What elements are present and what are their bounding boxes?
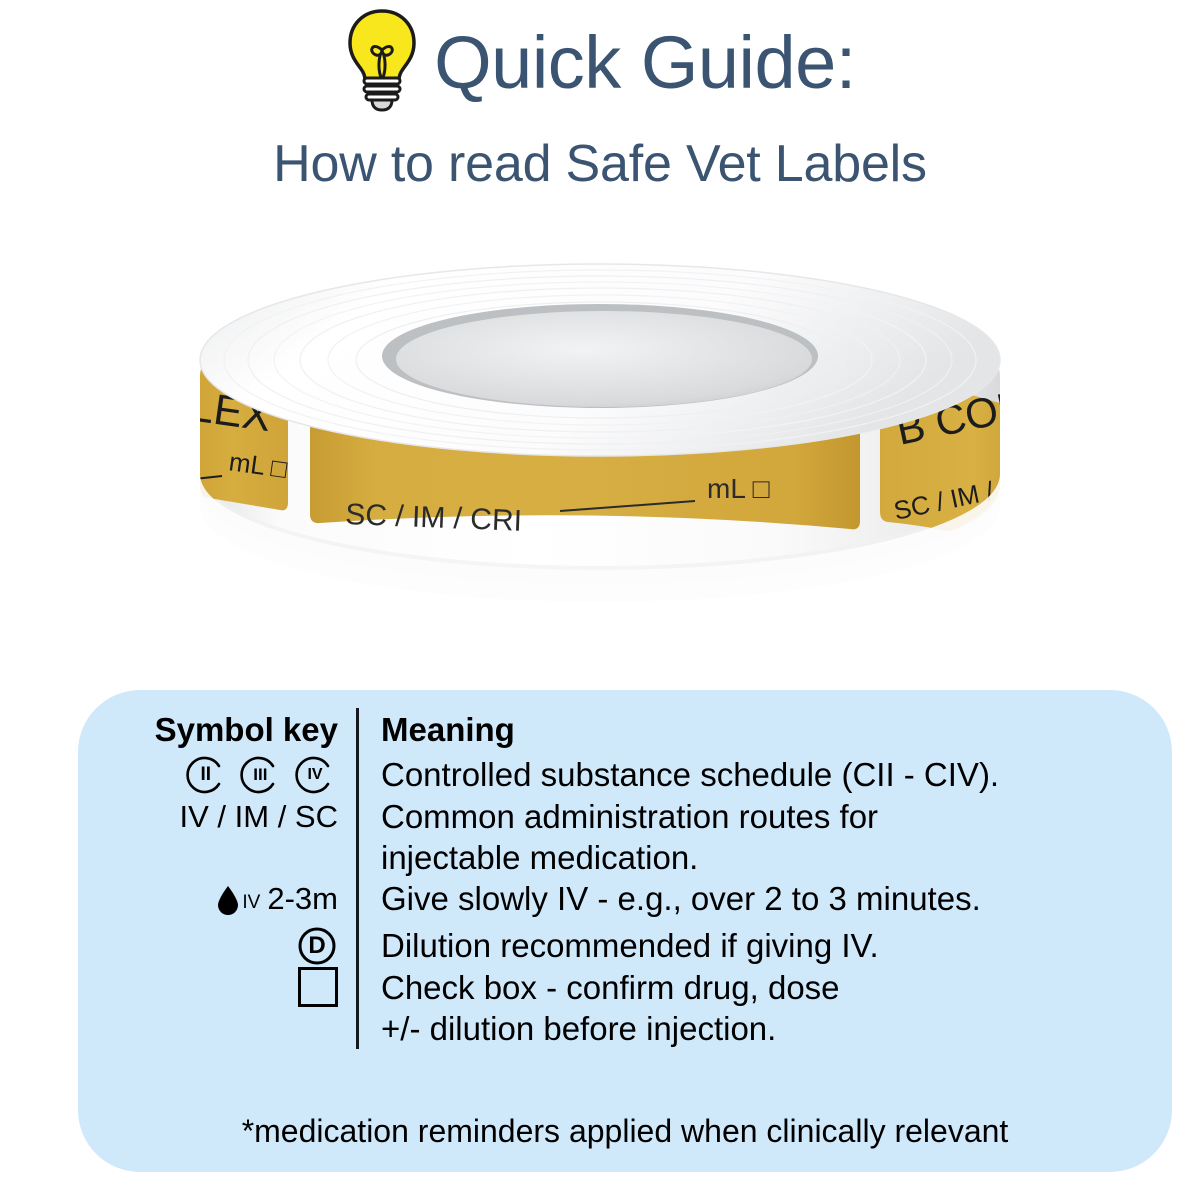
label-center-volume-unit: mL □ [707, 473, 770, 504]
meaning-dilution: Dilution recommended if giving IV. [358, 925, 1000, 967]
meaning-routes-line2: injectable medication. [381, 837, 999, 878]
table-row: IV2-3m Give slowly IV - e.g., over 2 to … [100, 878, 999, 925]
meaning-checkbox-line1: Check box - confirm drug, dose [381, 967, 999, 1008]
circled-d-label: D [296, 925, 338, 967]
symbol-checkbox [100, 967, 358, 1049]
symbol-routes: IV / IM / SC [100, 796, 358, 878]
table-row: IV / IM / SC Common administration route… [100, 796, 999, 878]
card-footnote: *medication reminders applied when clini… [78, 1113, 1172, 1150]
symbol-key-table: Symbol key Meaning II III IV [100, 708, 999, 1049]
meaning-checkbox: Check box - confirm drug, dose +/- dilut… [358, 967, 1000, 1049]
meaning-routes-line1: Common administration routes for [381, 796, 999, 837]
page-title: Quick Guide: [434, 26, 856, 100]
meaning-controlled-schedule: Controlled substance schedule (CII - CIV… [358, 754, 1000, 796]
table-row: II III IV Controlled substance schedule … [100, 754, 999, 796]
product-photo: PLEX mL □ B COMPLEX mL □ SC / IM / CRI B… [0, 230, 1200, 660]
circled-two-label: II [186, 755, 226, 795]
label-center-routes: SC / IM / CRI [345, 498, 523, 538]
circled-d-icon: D [296, 925, 338, 967]
column-header-meaning: Meaning [358, 708, 1000, 754]
slow-iv-duration-label: 2-3m [267, 881, 338, 916]
meaning-routes: Common administration routes for injecta… [358, 796, 1000, 878]
page-subtitle: How to read Safe Vet Labels [0, 138, 1200, 190]
symbol-controlled-schedule: II III IV [100, 754, 358, 796]
drop-icon [217, 885, 239, 915]
label-roll-illustration: PLEX mL □ B COMPLEX mL □ SC / IM / CRI B… [170, 230, 1030, 660]
table-header-row: Symbol key Meaning [100, 708, 999, 754]
symbol-key-table-wrap: Symbol key Meaning II III IV [78, 708, 1172, 1049]
symbol-dilution: D [100, 925, 358, 967]
symbol-key-card: Symbol key Meaning II III IV [78, 690, 1172, 1172]
circled-three-label: III [240, 755, 280, 795]
circled-two-icon: II [186, 755, 226, 795]
circled-four-label: IV [295, 755, 335, 795]
circled-three-icon: III [240, 755, 280, 795]
column-header-symbol: Symbol key [100, 708, 358, 754]
symbol-slow-iv: IV2-3m [100, 878, 358, 925]
table-row: D Dilution recommended if giving IV. [100, 925, 999, 967]
table-row: Check box - confirm drug, dose +/- dilut… [100, 967, 999, 1049]
meaning-slow-iv: Give slowly IV - e.g., over 2 to 3 minut… [358, 878, 1000, 925]
circled-four-icon: IV [295, 755, 335, 795]
meaning-checkbox-line2: +/- dilution before injection. [381, 1008, 999, 1049]
page-header: Quick Guide: How to read Safe Vet Labels [0, 0, 1200, 190]
checkbox-icon [298, 967, 338, 1007]
light-bulb-icon [344, 8, 420, 112]
title-row: Quick Guide: [0, 14, 1200, 112]
slow-iv-route-label: IV [242, 892, 260, 913]
